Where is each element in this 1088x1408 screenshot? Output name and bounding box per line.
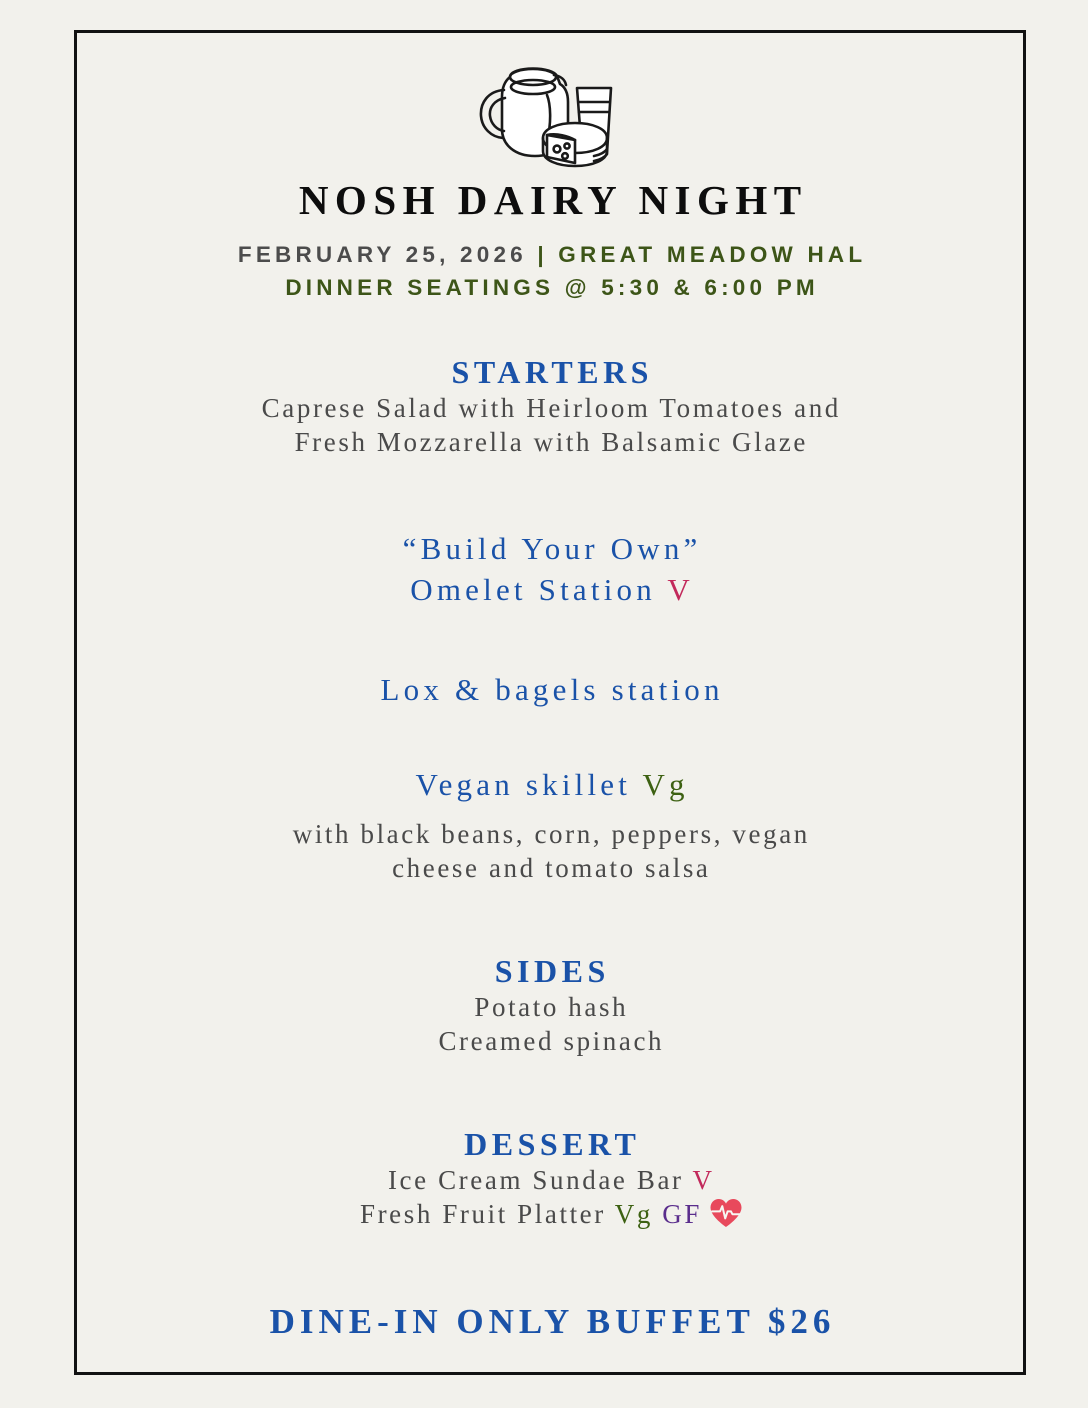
vegan-desc-line-2: cheese and tomato salsa [77,851,1023,885]
menu-page: NOSH DAIRY NIGHT FEBRUARY 25, 2026 | GRE… [74,30,1026,1375]
starters-line-1: Caprese Salad with Heirloom Tomatoes and [77,391,1023,425]
vegan-label: Vegan skillet [415,767,631,802]
vegan-description: with black beans, corn, peppers, vegan c… [77,817,1023,885]
omelet-line-2: Omelet Station V [77,569,1023,610]
dessert-item-1: Ice Cream Sundae Bar V [77,1163,1023,1197]
sides-item-1: Potato hash [77,990,1023,1024]
dairy-pitcher-cheese-glass-icon [465,57,635,172]
dessert-item-2-label: Fresh Fruit Platter [360,1199,606,1229]
tag-gluten-free: GF [662,1199,702,1229]
starters-line-2: Fresh Mozzarella with Balsamic Glaze [77,425,1023,459]
heartbeat-heart-icon [706,1198,743,1236]
subheader-separator: | [537,242,548,267]
omelet-line-1: “Build Your Own” [77,528,1023,569]
section-sides: SIDES Potato hash Creamed spinach [77,953,1023,1058]
sides-item-2: Creamed spinach [77,1024,1023,1058]
dessert-heading: DESSERT [77,1126,1023,1163]
omelet-label: Omelet Station [410,572,656,607]
dinner-seating-times: DINNER SEATINGS @ 5:30 & 6:00 PM [77,272,1023,305]
dairy-illustration [77,55,1023,173]
starters-heading: STARTERS [77,354,1023,391]
section-lox-bagels: Lox & bagels station [77,669,1023,710]
section-starters: STARTERS Caprese Salad with Heirloom Tom… [77,354,1023,459]
tag-vegan: Vg [642,767,688,802]
event-date: FEBRUARY 25, 2026 [238,242,527,267]
sides-heading: SIDES [77,953,1023,990]
tag-vegetarian: V [693,1165,715,1195]
tag-vegan: Vg [615,1199,653,1229]
section-vegan-skillet: Vegan skillet Vg [77,764,1023,805]
vegan-desc-line-1: with black beans, corn, peppers, vegan [77,817,1023,851]
dessert-item-2: Fresh Fruit Platter Vg GF [77,1197,1023,1236]
price-line: DINE-IN ONLY BUFFET $26 [77,1302,1023,1342]
tag-vegetarian: V [667,572,694,607]
section-omelet-station: “Build Your Own” Omelet Station V [77,528,1023,610]
event-subheader: FEBRUARY 25, 2026 | GREAT MEADOW HAL DIN… [77,239,1023,304]
dessert-item-1-label: Ice Cream Sundae Bar [388,1165,684,1195]
lox-line-1: Lox & bagels station [77,669,1023,710]
section-dessert: DESSERT Ice Cream Sundae Bar V Fresh Fru… [77,1126,1023,1236]
buffet-price: DINE-IN ONLY BUFFET $26 [77,1302,1023,1342]
menu-title: NOSH DAIRY NIGHT [77,179,1023,222]
event-venue: GREAT MEADOW HAL [558,242,866,267]
vegan-line-1: Vegan skillet Vg [77,764,1023,805]
